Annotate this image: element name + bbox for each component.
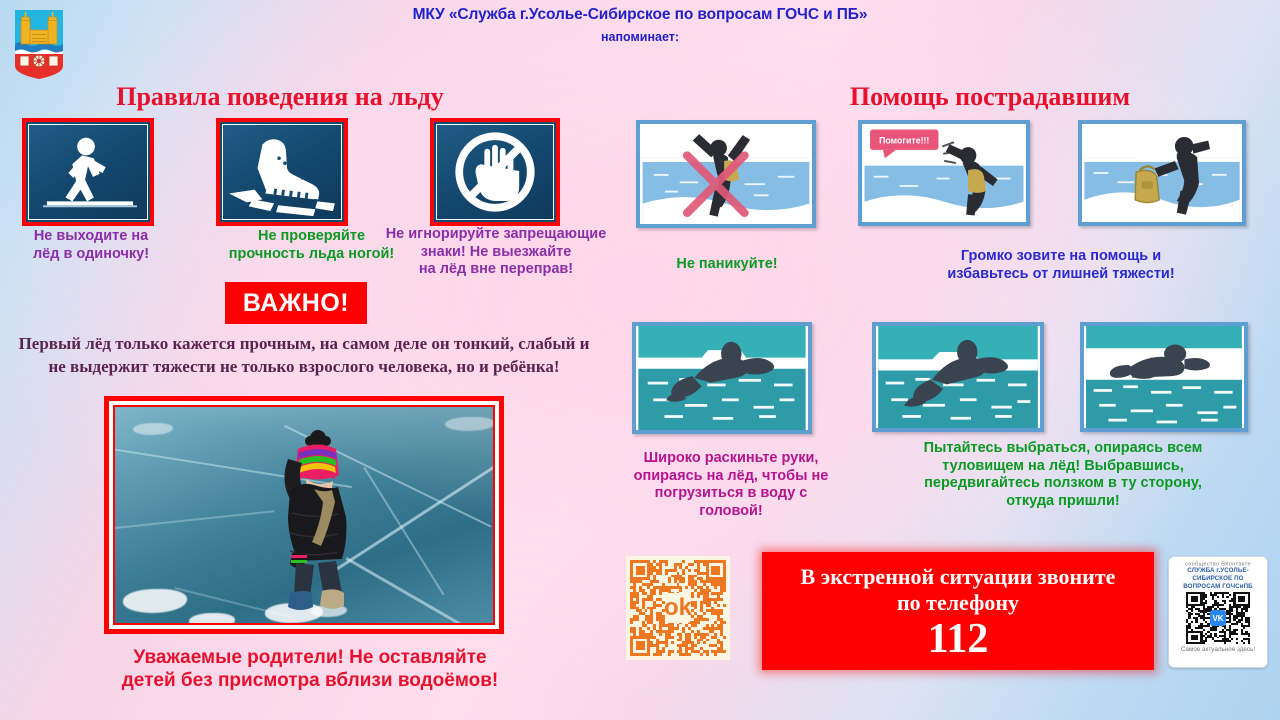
help-caption-2: Громко зовите на помощь и избавьтесь от …: [866, 248, 1256, 283]
card-no-panic: [636, 120, 816, 228]
city-coat-of-arms-icon: [12, 8, 66, 80]
pedestrian-on-ice-icon: [28, 124, 148, 220]
important-text: Первый лёд только кажется прочным, на са…: [14, 332, 594, 378]
odnoklassniki-qr-code[interactable]: ok: [626, 556, 730, 660]
vk-community-card[interactable]: сообщество ВКонтакте СЛУЖБА г.УСОЛЬЕ-СИБ…: [1168, 556, 1268, 668]
help-heading: Помощь пострадавшим: [760, 82, 1220, 112]
sign-no-alone-on-ice: [22, 118, 154, 226]
no-entry-hand-icon: [436, 124, 554, 220]
climb-out-icon: [876, 326, 1040, 428]
vk-badge-icon: VK: [1210, 610, 1226, 626]
drop-backpack-icon: [1082, 124, 1242, 222]
child-on-ice-photo: [104, 396, 504, 634]
emergency-call-banner: В экстренной ситуации звоните по телефон…: [762, 552, 1154, 670]
call-for-help-icon: Помогите!!!: [862, 124, 1026, 222]
sign-no-entry-prohibiting: [430, 118, 560, 226]
poster-root: МКУ «Служба г.Усолье-Сибирское по вопрос…: [0, 0, 1280, 720]
rule-caption-1: Не выходите на лёд в одиночку!: [6, 228, 176, 263]
no-panic-icon: [640, 124, 812, 224]
rule-caption-3: Не игнорируйте запрещающие знаки! Не вые…: [370, 226, 622, 279]
vk-kicker: сообщество ВКонтакте: [1147, 561, 1280, 567]
vk-footer: Самое актуальное здесь!: [1149, 645, 1280, 653]
crawl-away-icon: [1084, 326, 1244, 428]
org-subtitle: напоминает:: [300, 30, 980, 44]
card-drop-backpack: [1078, 120, 1246, 226]
odnoklassniki-logo-icon: ok: [665, 593, 691, 623]
card-crawl-away: [1080, 322, 1248, 432]
vk-title: СЛУЖБА г.УСОЛЬЕ-СИБИРСКОЕ ПО ВОПРОСАМ ГО…: [1172, 567, 1264, 590]
emergency-number: 112: [928, 618, 989, 660]
help-caption-4: Пытайтесь выбраться, опираясь всем тулов…: [872, 440, 1254, 511]
sign-no-testing-ice-with-foot: [216, 118, 348, 226]
help-caption-1: Не паникуйте!: [636, 256, 818, 274]
card-spread-arms: [632, 322, 812, 434]
card-climb-out: [872, 322, 1044, 432]
important-badge: ВАЖНО!: [225, 282, 367, 324]
emergency-text: В экстренной ситуации звоните по телефон…: [772, 564, 1144, 616]
spread-arms-icon: [636, 326, 808, 430]
card-call-for-help: Помогите!!!: [858, 120, 1030, 226]
child-figure: [266, 429, 362, 623]
help-caption-3: Широко раскиньте руки, опираясь на лёд, …: [606, 450, 856, 521]
rules-heading: Правила поведения на льду: [30, 82, 530, 112]
photo-caption: Уважаемые родители! Не оставляйте детей …: [50, 646, 570, 692]
vk-qr-code[interactable]: VK: [1186, 592, 1250, 644]
ice-background: [115, 407, 493, 623]
org-title: МКУ «Служба г.Усолье-Сибирское по вопрос…: [300, 6, 980, 24]
boot-breaking-ice-icon: [222, 124, 342, 220]
svg-text:Помогите!!!: Помогите!!!: [879, 135, 929, 145]
